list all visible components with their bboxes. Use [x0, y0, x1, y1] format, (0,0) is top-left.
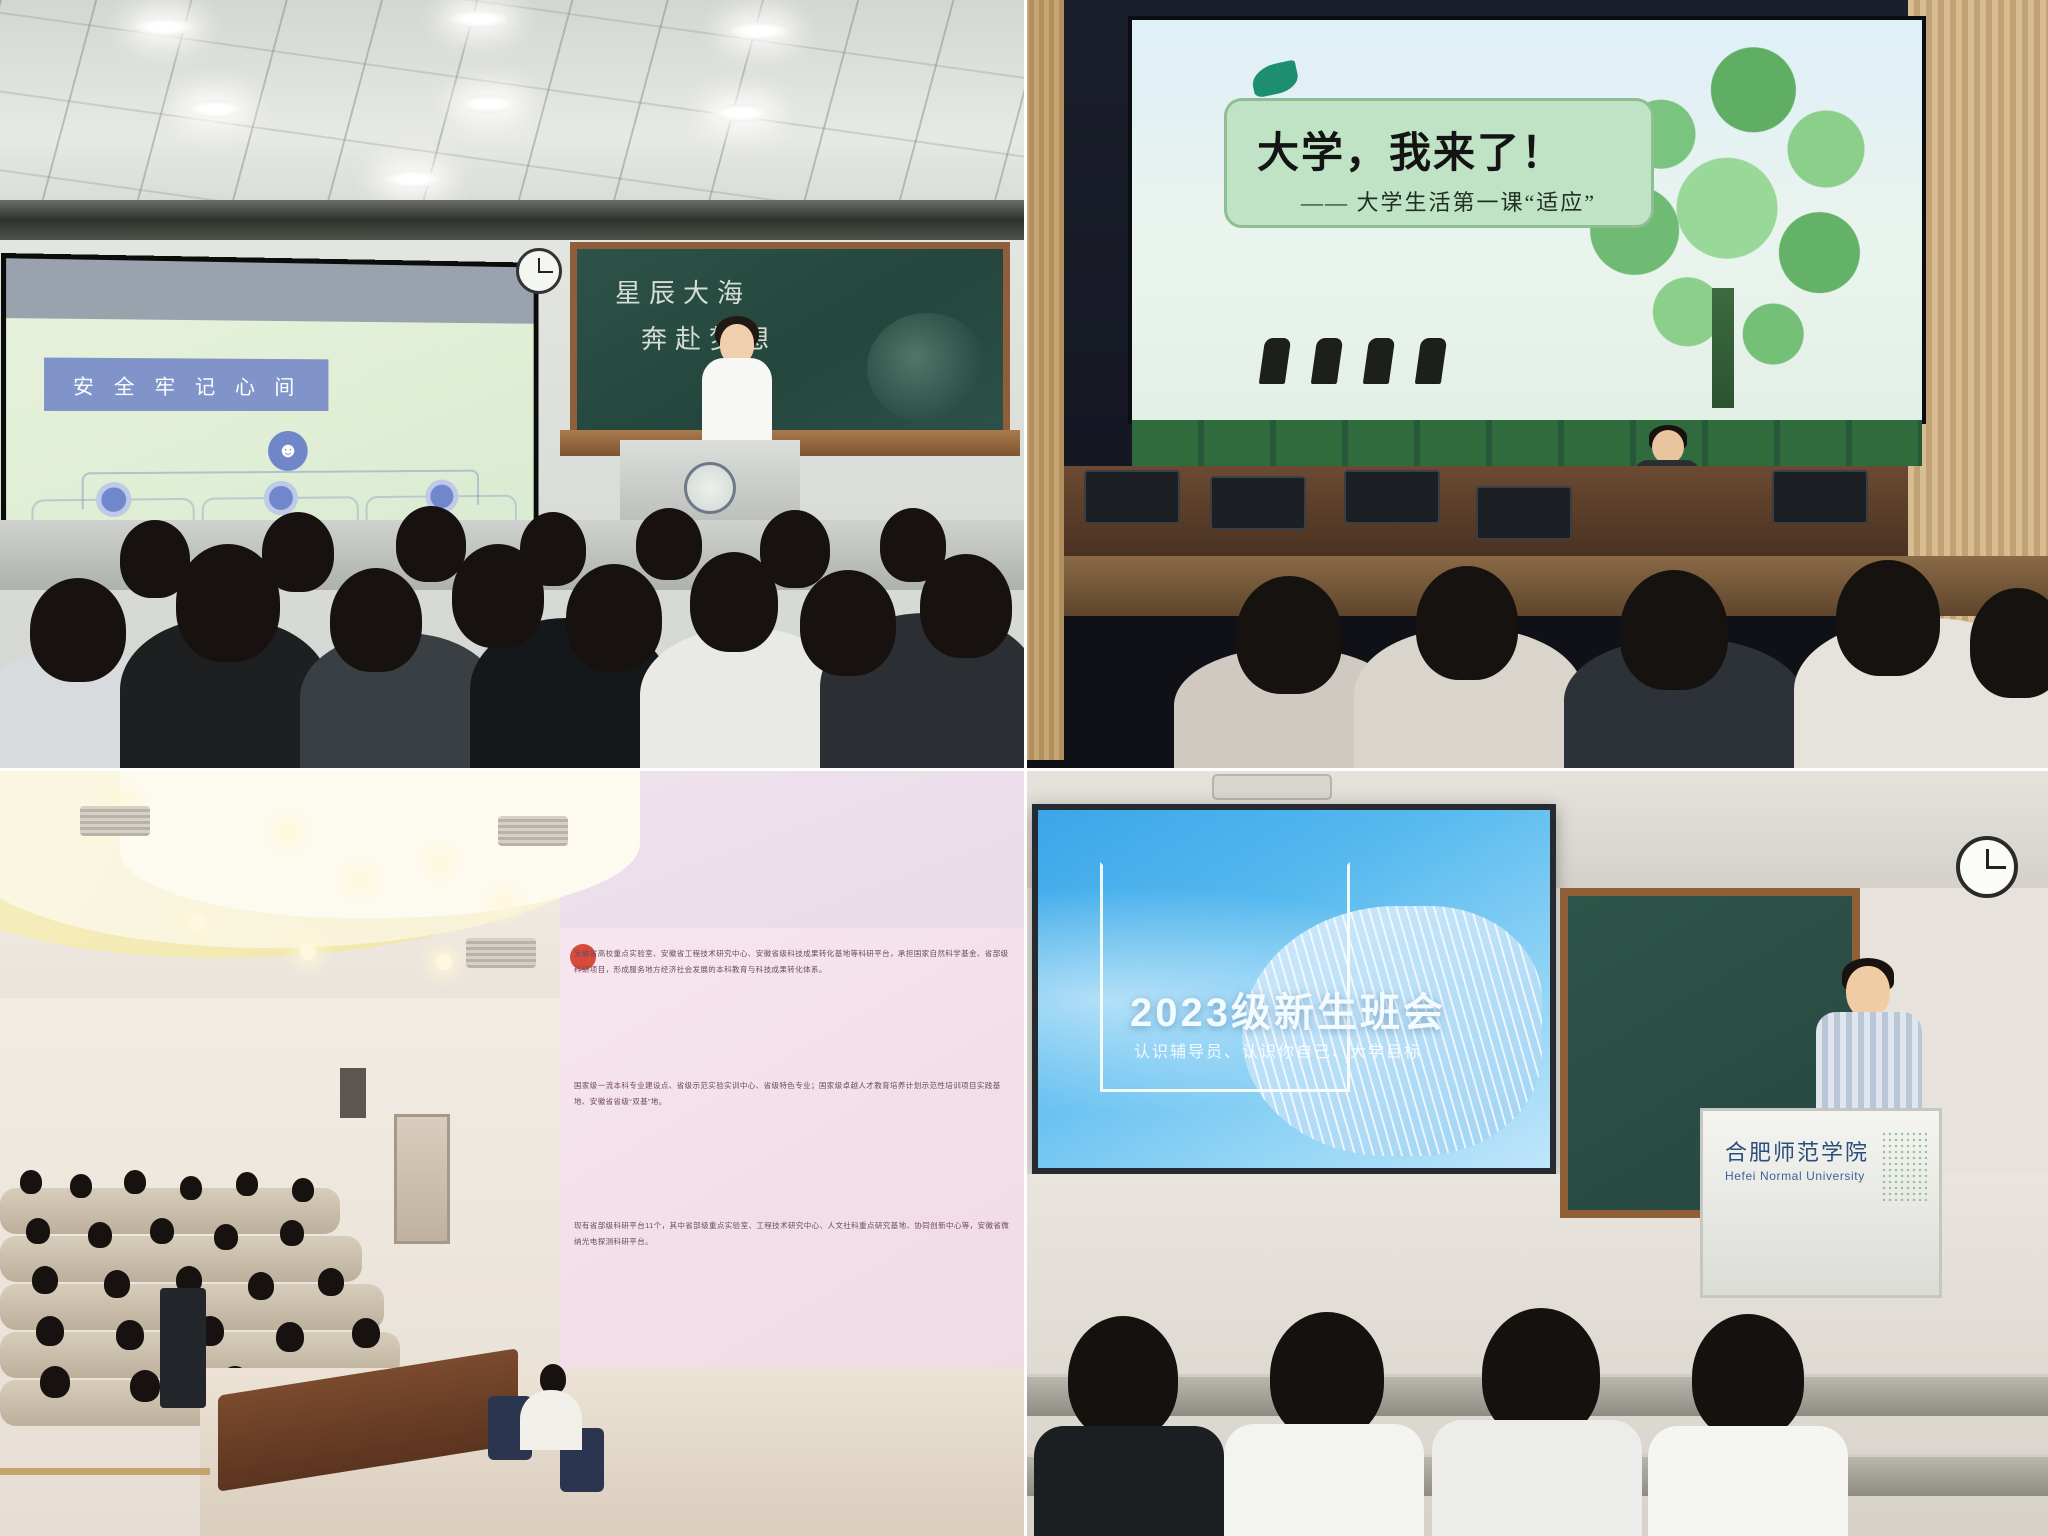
stage-backdrop-panels [1132, 420, 1922, 466]
speaker-head [1846, 966, 1890, 1018]
seated-student-head [352, 1318, 380, 1348]
student-head [262, 512, 334, 592]
downlight [280, 824, 296, 840]
lecturer [702, 322, 772, 452]
seated-student-head [180, 1176, 202, 1200]
seated-student-head [214, 1224, 238, 1250]
ceiling-lamp [384, 170, 442, 188]
downlight [300, 944, 316, 960]
child-silhouette [1311, 338, 1343, 384]
podium-school-name-en: Hefei Normal University [1725, 1169, 1865, 1183]
seated-student-head [20, 1170, 42, 1194]
downlight [496, 894, 512, 910]
attendee-head [1970, 588, 2048, 698]
clock-icon [96, 482, 131, 517]
bench-rows [1024, 1306, 2048, 1536]
student-head [30, 578, 126, 682]
desk-monitor [1344, 470, 1440, 524]
seated-student-head [236, 1172, 258, 1196]
air-vent [80, 806, 150, 836]
ceiling-lamp [460, 95, 518, 113]
seated-student-head [280, 1220, 304, 1246]
seated-student-head [124, 1170, 146, 1194]
seated-student-head [318, 1268, 344, 1296]
blackboard: 星辰大海 奔赴梦想 [570, 242, 1010, 442]
seated-student-head [248, 1272, 274, 1300]
panel-top-right: 大学，我来了！ —— 大学生活第一课“适应” [1024, 0, 2048, 768]
student-head [520, 512, 586, 586]
audience [1024, 578, 2048, 768]
flying-fairy-icon [1249, 60, 1300, 99]
student-body [1432, 1420, 1642, 1536]
student-head [1270, 1312, 1384, 1440]
class-meeting-slide: 2023级新生班会 认识辅导员、认识你自己、大学目标 [1038, 810, 1550, 1168]
desk-monitor [1476, 486, 1572, 540]
student-head [636, 508, 702, 580]
wall-paragraph: 国家级一流本科专业建设点、省级示范实验实训中心、省级特色专业；国家级卓越人才教育… [574, 1078, 1014, 1110]
attendee-head [1620, 570, 1728, 690]
seated-student-head [70, 1174, 92, 1198]
seated-student-head [36, 1316, 64, 1346]
student [1224, 1286, 1424, 1536]
podium: 合肥师范学院 Hefei Normal University [1700, 1108, 1942, 1298]
ceiling-lamp [450, 10, 508, 28]
seated-student-head [150, 1218, 174, 1244]
upper-wall-band [0, 200, 1024, 244]
student-body [1034, 1426, 1224, 1536]
slide-subtitle: —— 大学生活第一课“适应” [1301, 185, 1596, 217]
lecturer-body [702, 358, 772, 452]
student-head [760, 510, 830, 588]
panel-bottom-left: 安徽省高校重点实验室、安徽省工程技术研究中心、安徽省级科技成果转化基地等科研平台… [0, 768, 1024, 1536]
downlight [436, 954, 452, 970]
projection-screen: 2023级新生班会 认识辅导员、认识你自己、大学目标 [1032, 804, 1556, 1174]
attendee-head [1236, 576, 1342, 694]
student [1648, 1296, 1848, 1536]
ceiling-lamp [186, 100, 244, 118]
seated-student-head [40, 1366, 70, 1398]
child-silhouette [1259, 338, 1291, 384]
audience [0, 518, 1024, 768]
seated-student-head [88, 1222, 112, 1248]
podium-dot-pattern [1881, 1131, 1927, 1201]
ceiling-lamp [135, 18, 193, 36]
student-head [880, 508, 946, 582]
slide-title-text: 安 全 牢 记 心 间 [73, 369, 301, 399]
student-head [120, 520, 190, 598]
panel-bottom-right: 2023级新生班会 认识辅导员、认识你自己、大学目标 合肥师范学院 Hefei … [1024, 768, 2048, 1536]
chalk-line-1: 星辰大海 [615, 273, 751, 310]
projection-screen: 大学，我来了！ —— 大学生活第一课“适应” [1132, 20, 1922, 420]
slide-subtitle: 认识辅导员、认识你自己、大学目标 [1134, 1038, 1422, 1062]
seated-presenter-body [520, 1390, 582, 1450]
stage-railing [0, 1468, 210, 1536]
person-icon: ☻ [268, 431, 308, 471]
student-body [1648, 1426, 1848, 1536]
air-vent [466, 938, 536, 968]
seated-student-head [26, 1218, 50, 1244]
photo-collage: 安 全 牢 记 心 间 ☻ 个人人身安全 出行、意外 个人心理健康 焦虑 vs … [0, 0, 2048, 1536]
desk-monitor [1772, 470, 1868, 524]
seated-student-head [104, 1270, 130, 1298]
student [1034, 1306, 1224, 1536]
downlight [190, 914, 206, 930]
wood-panel-right [1908, 0, 2048, 640]
panel-divider-horizontal [0, 768, 2048, 771]
slide-header-band [6, 258, 534, 324]
slide-title-box: 大学，我来了！ —— 大学生活第一课“适应” [1224, 98, 1654, 228]
podium-school-name-cn: 合肥师范学院 [1725, 1135, 1869, 1167]
downlight [352, 872, 368, 888]
seated-student-head [130, 1370, 160, 1402]
student-head [330, 568, 422, 672]
ceiling-lamp [712, 104, 770, 122]
attendee-head [1836, 560, 1940, 676]
tree-trunk [1712, 288, 1734, 408]
wall-text-display: 安徽省高校重点实验室、安徽省工程技术研究中心、安徽省级科技成果转化基地等科研平台… [560, 928, 1024, 1398]
wall-speaker [340, 1068, 366, 1118]
wall-paragraph: 安徽省高校重点实验室、安徽省工程技术研究中心、安徽省级科技成果转化基地等科研平台… [574, 946, 1014, 978]
ceiling-lamp [730, 22, 788, 40]
student-head [1068, 1316, 1178, 1440]
children-silhouettes [1262, 338, 1444, 384]
child-silhouette [1415, 338, 1447, 384]
target-icon [264, 481, 298, 515]
speaker-head [1652, 430, 1684, 464]
chalk-decoration [867, 313, 987, 423]
floor-monitor-speaker [160, 1288, 206, 1408]
seated-student-head [292, 1178, 314, 1202]
projector [1212, 774, 1332, 800]
wall-clock [516, 248, 562, 294]
seated-student-head [116, 1320, 144, 1350]
slide-title-chip: 安 全 牢 记 心 间 [44, 358, 328, 411]
student-head [800, 570, 896, 676]
downlight [432, 854, 448, 870]
school-emblem [684, 462, 736, 514]
student-head [396, 506, 466, 582]
air-vent [498, 816, 568, 846]
student-head [566, 564, 662, 672]
panel-top-left: 安 全 牢 记 心 间 ☻ 个人人身安全 出行、意外 个人心理健康 焦虑 vs … [0, 0, 1024, 768]
desk-monitor [1210, 476, 1306, 530]
slide-title: 大学，我来了！ [1257, 119, 1565, 180]
wall-clock [1956, 836, 2018, 898]
slide-title: 2023级新生班会 [1130, 980, 1446, 1038]
student [1432, 1286, 1642, 1536]
wall-paragraph: 现有省部级科研平台11个，其中省部级重点实验室、工程技术研究中心、人文社科重点研… [574, 1218, 1014, 1250]
attendee-head [1416, 566, 1518, 680]
child-silhouette [1363, 338, 1395, 384]
student-body [1224, 1424, 1424, 1536]
student-head [1692, 1314, 1804, 1440]
seated-student-head [276, 1322, 304, 1352]
desk-monitor [1084, 470, 1180, 524]
seated-student-head [32, 1266, 58, 1294]
